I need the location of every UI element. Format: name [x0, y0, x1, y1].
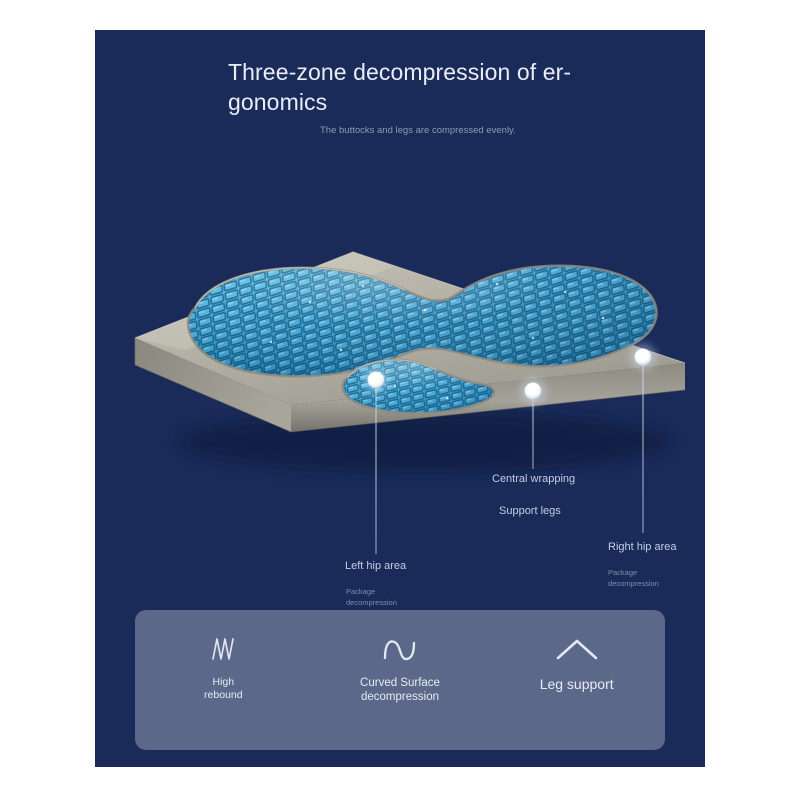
callout-right-hip-sub: Package decompression	[608, 568, 670, 590]
spring-coil-icon	[210, 632, 236, 666]
callout-right-hip-label: Right hip area	[608, 541, 677, 553]
sine-wave-icon	[380, 632, 420, 666]
callout-left-hip-label: Left hip area	[345, 560, 406, 572]
feature-label: Leg support	[512, 676, 642, 694]
chevron-up-icon	[554, 632, 600, 666]
feature-high-rebound[interactable]: High rebound	[135, 610, 312, 750]
callout-left-hip-leader	[376, 388, 377, 554]
callout-left-hip-sub: Package decompression	[346, 587, 408, 609]
poster-panel: Three-zone decompression of er-gonomics …	[95, 30, 705, 767]
callout-central-wrapping-label: Central wrapping	[492, 473, 575, 485]
product-illustration	[95, 210, 705, 510]
feature-label: High rebound	[195, 676, 251, 702]
callout-right-hip-dot	[635, 349, 652, 366]
callout-central-wrapping-leader	[533, 399, 534, 469]
callout-right-hip-leader	[643, 365, 644, 533]
page-title: Three-zone decompression of er-gonomics	[228, 57, 588, 118]
headline-block: Three-zone decompression of er-gonomics	[228, 57, 588, 118]
feature-curved-surface-decompression[interactable]: Curved Surface decompression	[312, 610, 489, 750]
page-subtitle: The buttocks and legs are compressed eve…	[320, 124, 520, 138]
callout-support-legs-label: Support legs	[499, 505, 561, 517]
callout-central-wrapping-dot	[525, 383, 542, 400]
feature-panel: High rebound Curved Surface decompressio…	[135, 610, 665, 750]
feature-label: Curved Surface decompression	[340, 676, 460, 705]
callout-left-hip-dot	[368, 372, 385, 389]
feature-leg-support[interactable]: Leg support	[488, 610, 665, 750]
